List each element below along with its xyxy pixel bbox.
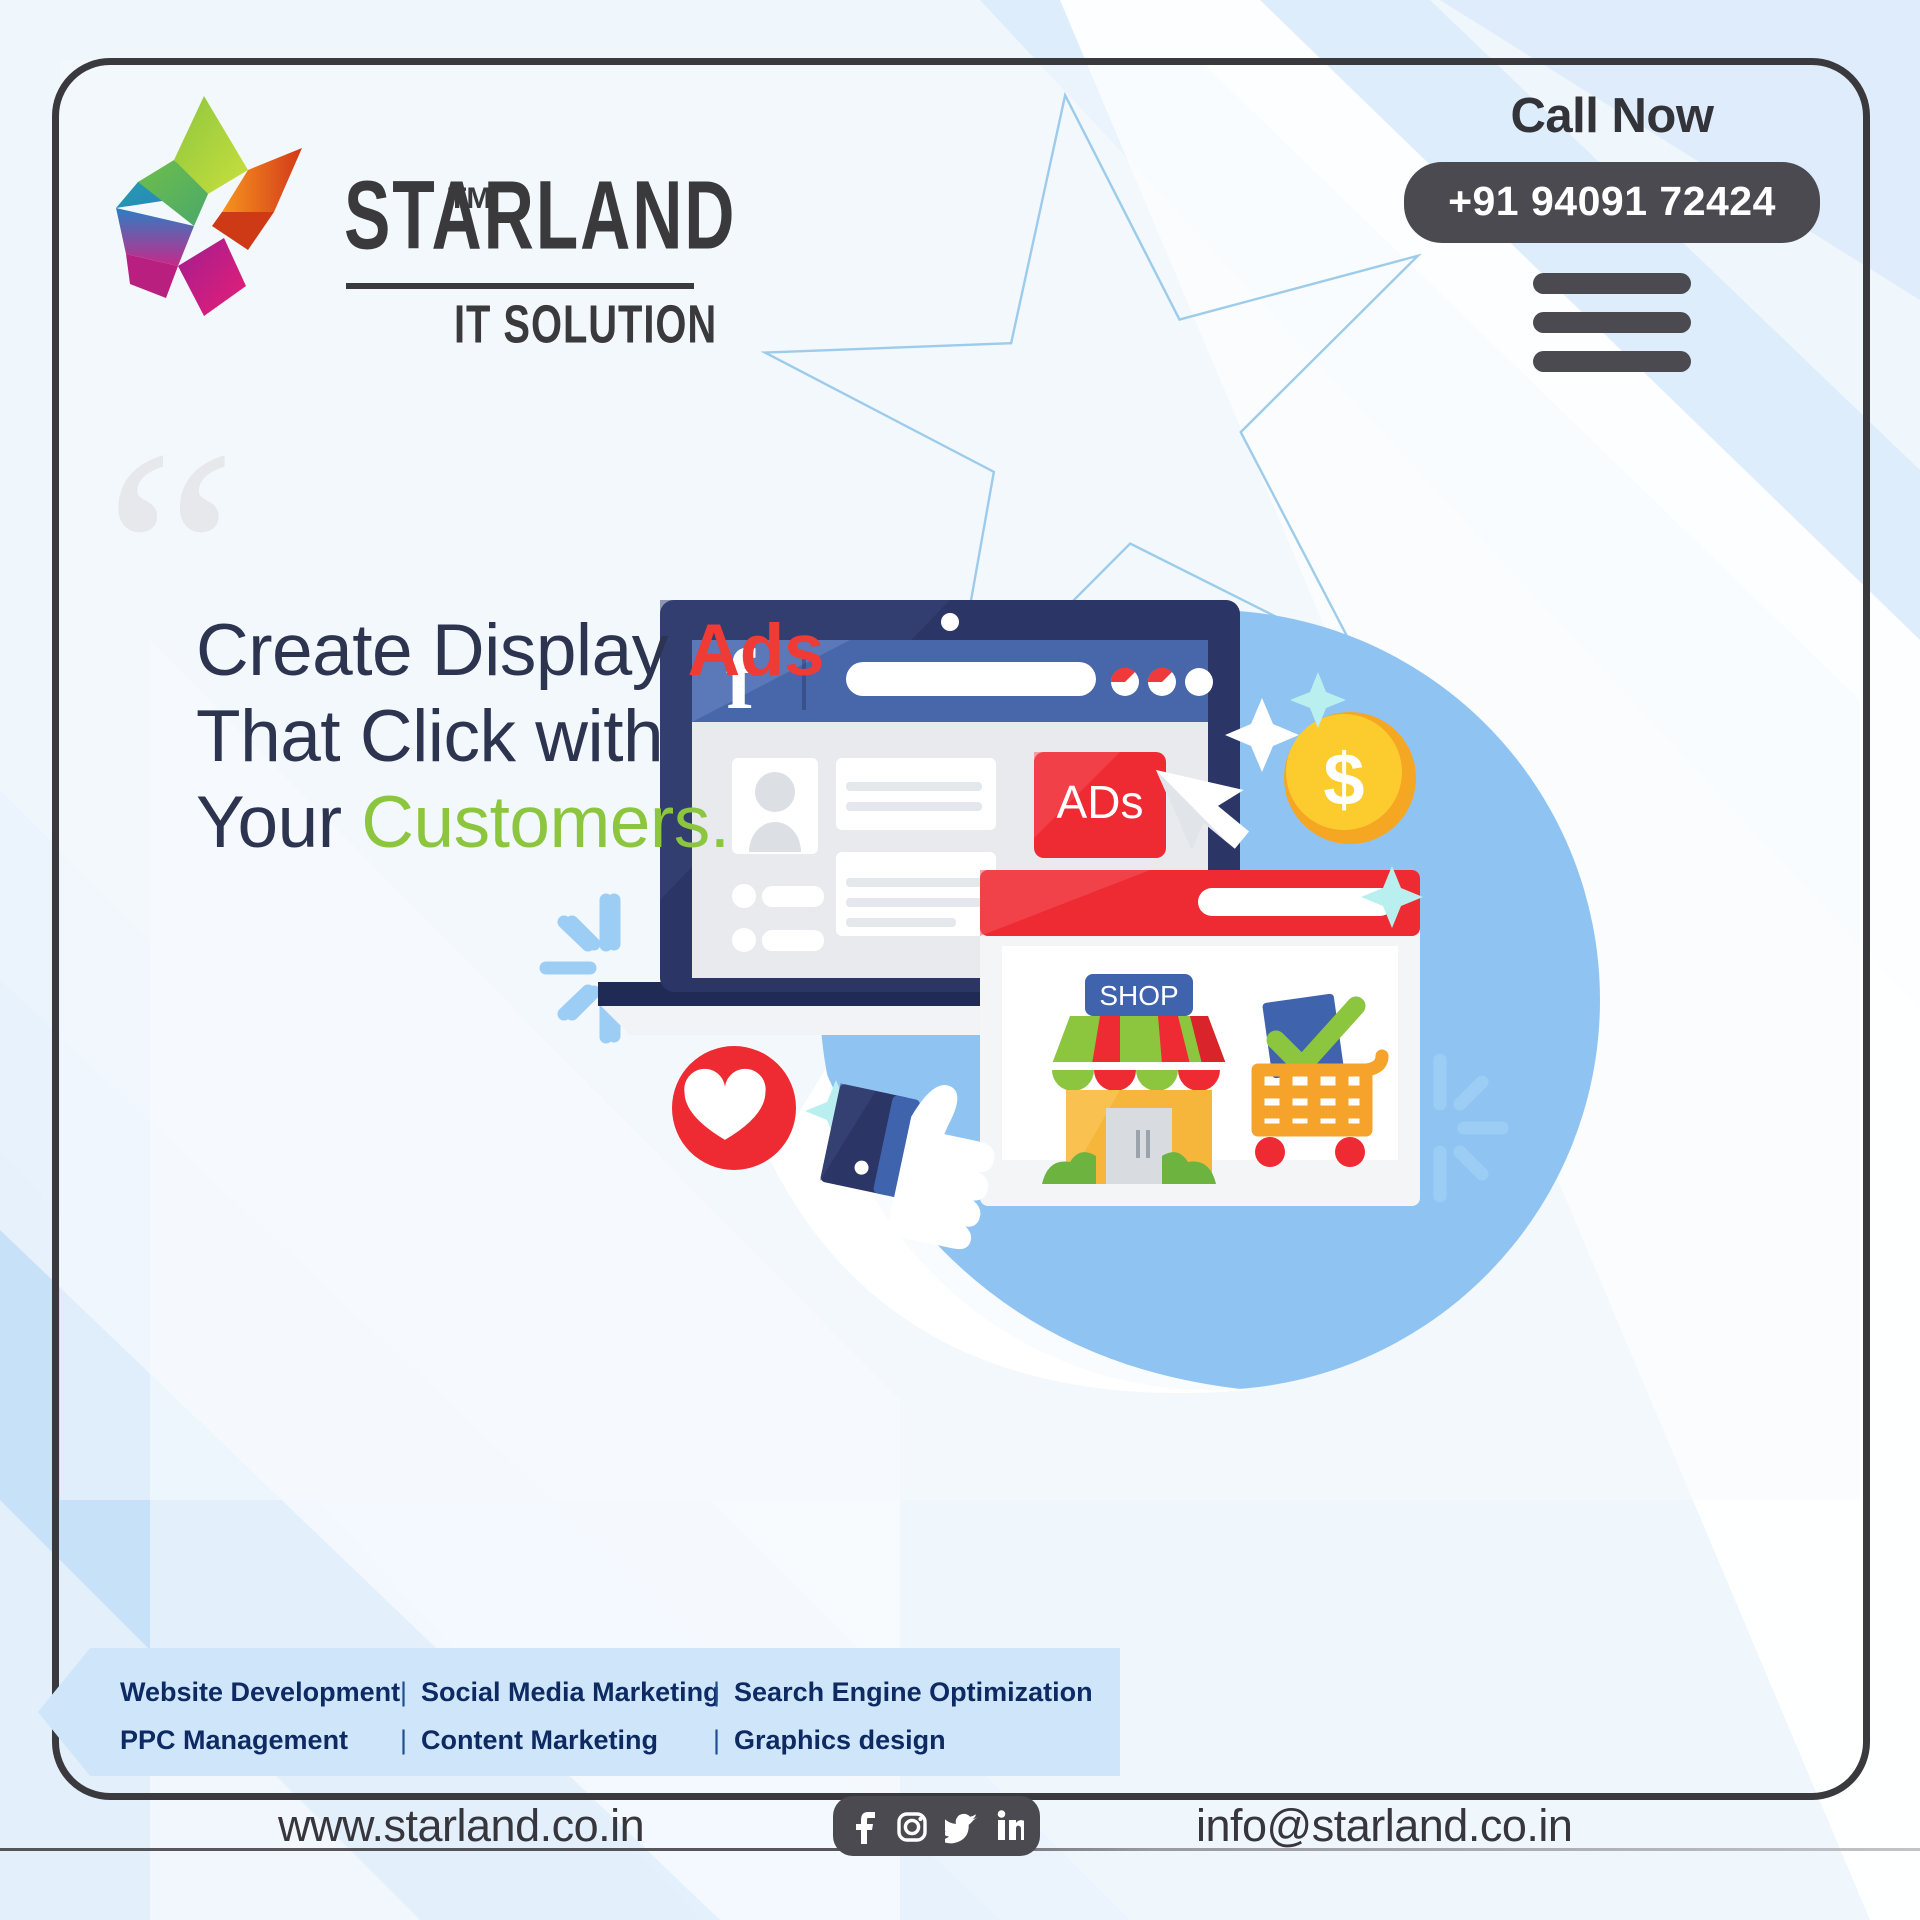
headline-line-1-plain: Create Display <box>196 610 688 691</box>
services-separator: | <box>400 1677 407 1708</box>
headline-accent-customers: Customers. <box>361 782 729 863</box>
services-banner: Website Development | Social Media Marke… <box>20 1648 1120 1776</box>
service-item[interactable]: Search Engine Optimization <box>734 1677 1093 1708</box>
website-link[interactable]: www.starland.co.in <box>278 1800 644 1852</box>
hamburger-bar <box>1533 312 1691 333</box>
logo-tm-mark: TM <box>448 182 491 216</box>
star-logo-icon <box>96 86 326 351</box>
coin-dollar-symbol: $ <box>1323 738 1364 821</box>
shop-browser-card: SHOP <box>980 870 1420 1206</box>
services-separator: | <box>400 1725 407 1756</box>
instagram-icon[interactable] <box>896 1806 928 1846</box>
brand-logo[interactable]: STARLAND TM IT SOLUTION <box>96 86 736 386</box>
headline-accent-ads: Ads <box>688 610 824 691</box>
service-item[interactable]: Social Media Marketing <box>421 1677 699 1708</box>
linkedin-icon[interactable] <box>996 1806 1024 1846</box>
phone-number-button[interactable]: +91 94091 72424 <box>1404 162 1820 243</box>
shop-sign-text: SHOP <box>1099 980 1178 1011</box>
call-now-label: Call Now <box>1402 88 1822 144</box>
hamburger-menu-icon[interactable] <box>1533 273 1691 372</box>
notification-dots-icon <box>1111 668 1213 696</box>
service-item[interactable]: Graphics design <box>734 1725 946 1756</box>
twitter-icon[interactable] <box>945 1806 979 1846</box>
social-links-group <box>833 1796 1040 1856</box>
call-now-block: Call Now +91 94091 72424 <box>1402 88 1822 372</box>
email-link[interactable]: info@starland.co.in <box>1196 1800 1572 1852</box>
facebook-icon[interactable] <box>849 1806 879 1846</box>
services-separator: | <box>713 1725 720 1756</box>
hamburger-bar <box>1533 273 1691 294</box>
heart-reaction-icon <box>672 1046 796 1170</box>
headline-line-1: Create Display Ads <box>196 608 824 694</box>
headline-line-2: That Click with <box>196 694 824 780</box>
dollar-coin-icon: $ <box>1284 712 1416 844</box>
service-item[interactable]: PPC Management <box>120 1725 386 1756</box>
hero-illustration: f <box>650 600 1850 1420</box>
services-row: PPC Management | Content Marketing | Gra… <box>120 1716 1093 1764</box>
service-item[interactable]: Website Development <box>120 1677 386 1708</box>
hamburger-bar <box>1533 351 1691 372</box>
services-list: Website Development | Social Media Marke… <box>120 1668 1093 1764</box>
headline-line-3-plain: Your <box>196 782 361 863</box>
ads-badge-text: ADs <box>1057 776 1144 828</box>
logo-text-group: STARLAND <box>344 176 761 237</box>
logo-brand-name: STARLAND <box>344 176 736 256</box>
services-row: Website Development | Social Media Marke… <box>120 1668 1093 1716</box>
footer-contact-bar: www.starland.co.in info@starland.co.in <box>0 1790 1920 1920</box>
service-item[interactable]: Content Marketing <box>421 1725 699 1756</box>
logo-tagline: IT SOLUTION <box>454 294 717 355</box>
address-bar-icon <box>1198 888 1394 916</box>
headline-line-3: Your Customers. <box>196 780 824 866</box>
logo-divider-rule <box>346 283 694 289</box>
page-headline: Create Display Ads That Click with Your … <box>196 608 824 866</box>
services-separator: | <box>713 1677 720 1708</box>
